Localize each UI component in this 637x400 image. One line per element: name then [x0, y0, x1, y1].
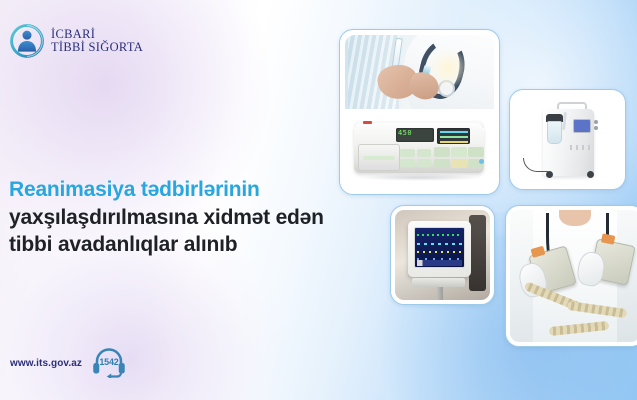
pump-secondary-display: [437, 128, 470, 144]
monitor-status-bar: [417, 260, 462, 266]
website-url[interactable]: www.its.gov.az: [10, 358, 82, 369]
patient-monitor-card[interactable]: [390, 205, 495, 305]
doctor-neck-shape: [559, 210, 590, 226]
pump-shadow-shape: [357, 174, 482, 181]
ecg-trace: [417, 234, 462, 236]
doctor-syringe-photo: [345, 35, 494, 109]
oxygen-caster-right: [587, 171, 594, 178]
defibrillator-photo: [510, 210, 637, 342]
headline-line-2: yaxşılaşdırılmasına xidmət edən: [9, 204, 361, 232]
oxygen-vent-slots-shape: [570, 145, 594, 150]
brand-name-line2: TİBBİ SIĞORTA: [51, 41, 143, 54]
oxygen-concentrator-card-photo: [514, 94, 621, 185]
circular-person-emblem-icon: [10, 24, 44, 58]
monitor-vitals-screen: [414, 227, 465, 268]
patient-monitor-card-photo: [395, 210, 490, 300]
headline-line-3: tibbi avadanlıqlar alınıb: [9, 231, 361, 259]
brand-logo[interactable]: İCBARİ TİBBİ SIĞORTA: [10, 24, 143, 58]
defibrillator-card[interactable]: [505, 205, 637, 347]
pump-brand-mark: [363, 121, 372, 124]
monitor-base-shape: [412, 278, 465, 288]
pump-primary-display: [396, 128, 435, 142]
infusion-pump-card[interactable]: [339, 29, 500, 195]
hotline-badge[interactable]: 1542: [91, 348, 127, 378]
pump-keypad-center: [400, 149, 431, 167]
patient-monitor-photo: [395, 210, 490, 300]
oxygen-display-screen: [573, 119, 591, 134]
oxygen-humidifier-jar-shape: [547, 121, 562, 144]
oxygen-power-cord-shape: [523, 158, 549, 173]
footer: www.its.gov.az 1542: [10, 348, 127, 378]
brand-name: İCBARİ TİBBİ SIĞORTA: [51, 28, 143, 55]
headline: Reanimasiya tədbirlərinin yaxşılaşdırılm…: [9, 176, 361, 259]
banner-root: İCBARİ TİBBİ SIĞORTA Reanimasiya tədbirl…: [0, 0, 637, 400]
pump-cassette-door: [358, 144, 400, 171]
hotline-number: 1542: [91, 348, 127, 378]
infusion-pump-photo: [345, 109, 494, 189]
oxygen-concentrator-card[interactable]: [509, 89, 626, 190]
oxygen-control-knobs: [594, 120, 598, 124]
resp-trace: [417, 251, 462, 253]
spo2-trace: [417, 243, 462, 245]
oxygen-concentrator-photo: [514, 94, 621, 185]
headline-line-1: Reanimasiya tədbirlərinin: [9, 176, 361, 204]
defibrillator-card-photo: [510, 210, 637, 342]
monitor-pole-shape: [437, 287, 444, 300]
monitor-background-panel: [469, 215, 486, 291]
pump-keypad-right: [434, 147, 483, 168]
infusion-pump-card-photo: [345, 35, 494, 189]
brand-name-line1: İCBARİ: [51, 28, 143, 41]
